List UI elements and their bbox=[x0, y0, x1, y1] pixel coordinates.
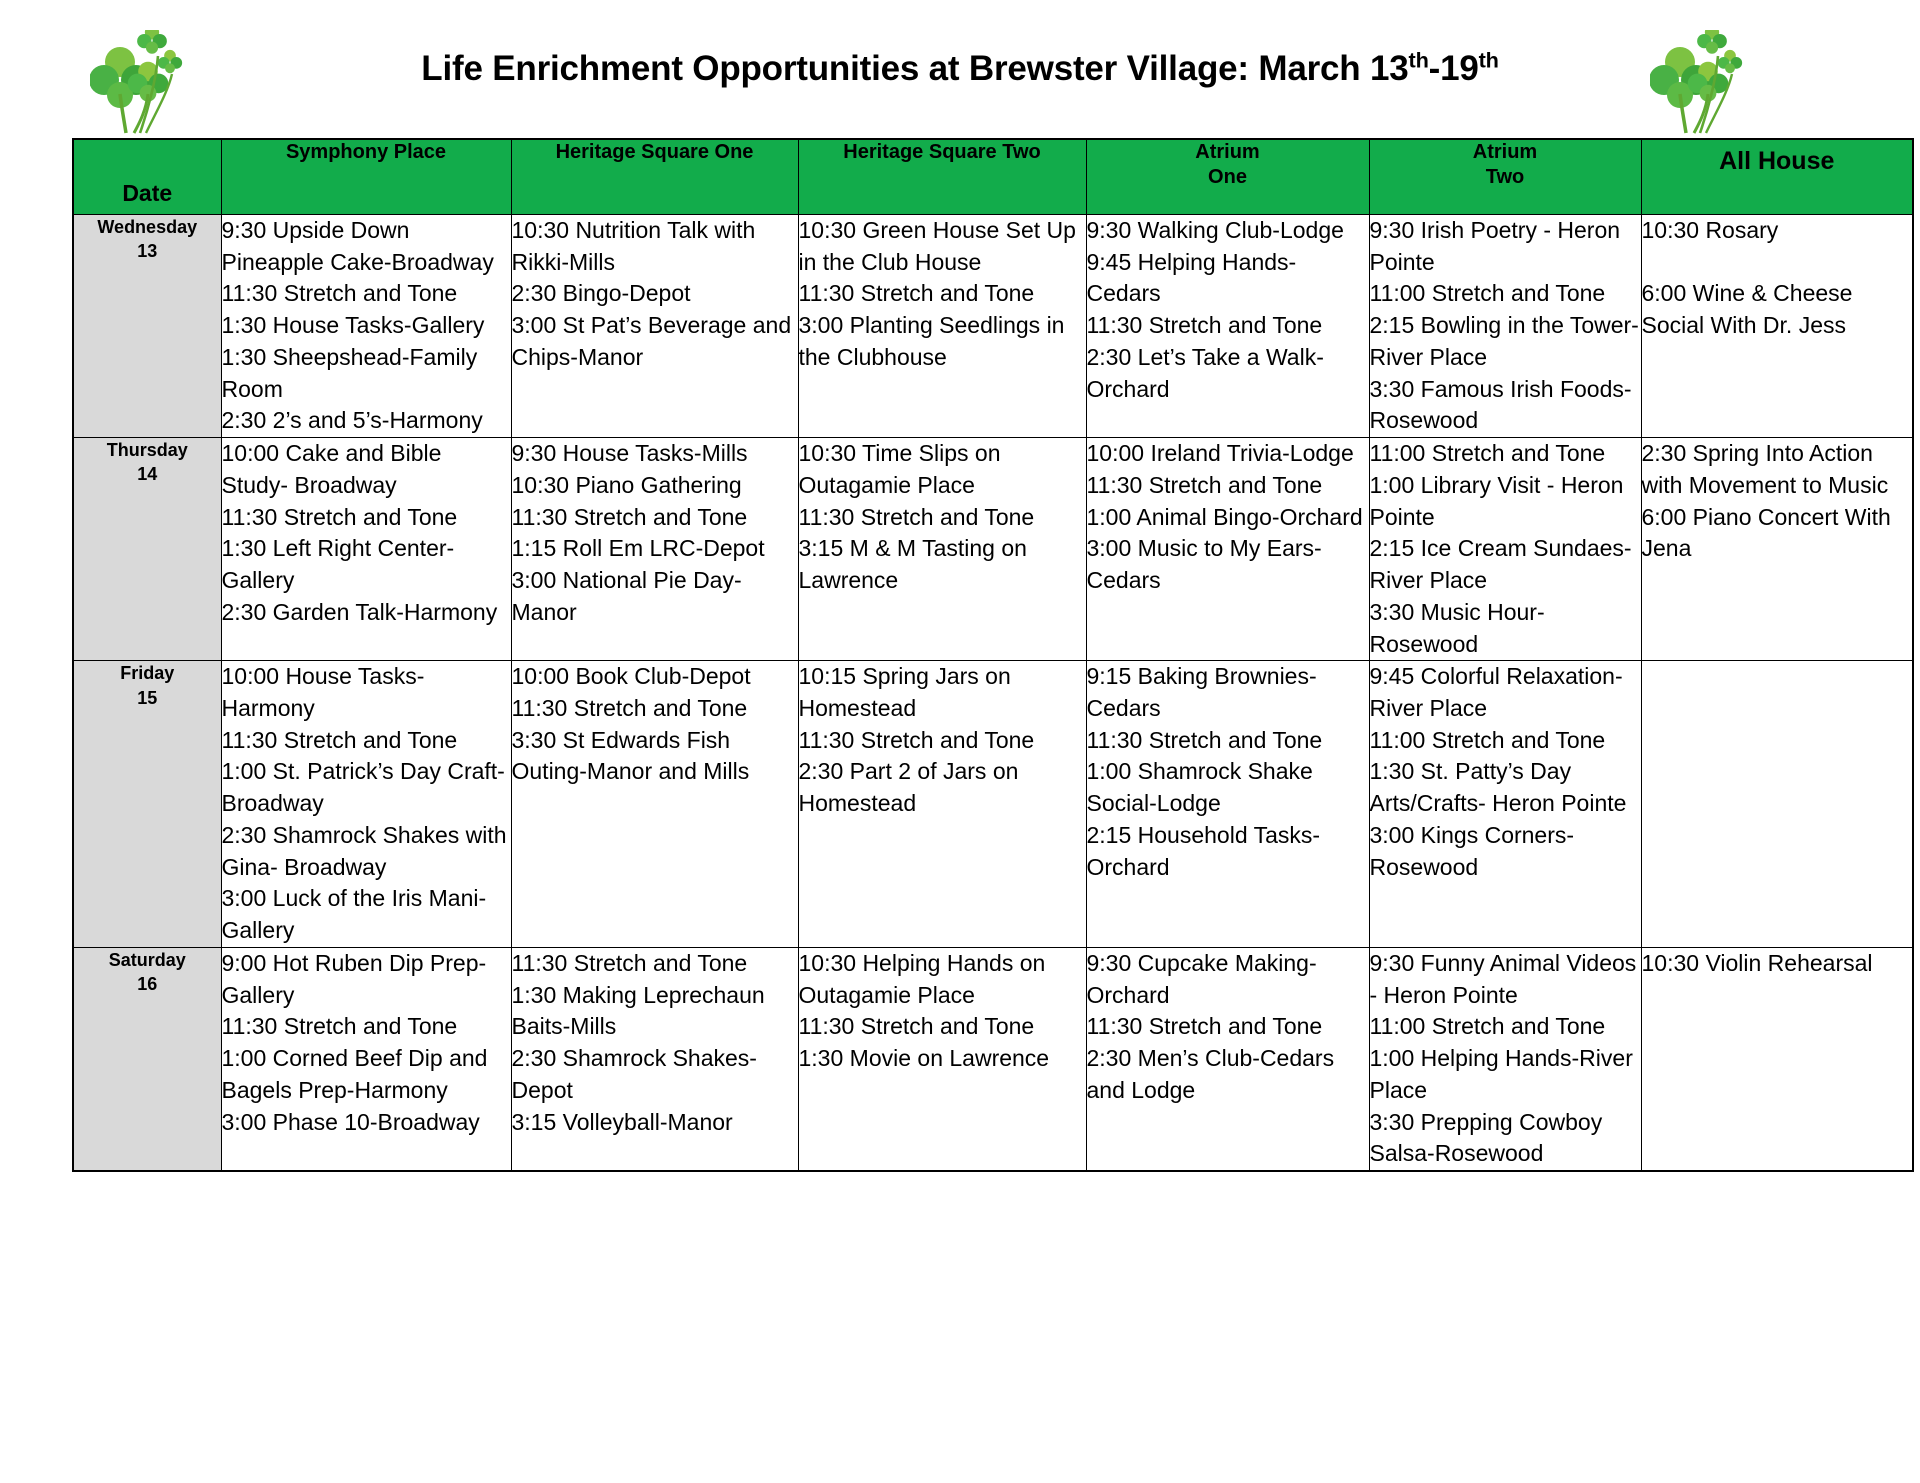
events-all-house: 2:30 Spring Into Action with Movement to… bbox=[1641, 438, 1913, 661]
date-cell: Thursday 14 bbox=[73, 438, 221, 661]
events-atrium-two: 9:30 Funny Animal Videos - Heron Pointe … bbox=[1369, 947, 1641, 1171]
day-name: Saturday bbox=[74, 948, 221, 972]
day-number: 13 bbox=[74, 239, 221, 263]
events-all-house: 10:30 Violin Rehearsal bbox=[1641, 947, 1913, 1171]
table-row: Saturday 16 9:00 Hot Ruben Dip Prep- Gal… bbox=[73, 947, 1913, 1171]
column-header-symphony-place: Symphony Place bbox=[221, 139, 511, 215]
activities-calendar-table: Date Symphony Place Heritage Square One … bbox=[72, 138, 1914, 1172]
column-header-heritage-square-one: Heritage Square One bbox=[511, 139, 798, 215]
events-atrium-one: 9:30 Cupcake Making-Orchard 11:30 Stretc… bbox=[1086, 947, 1369, 1171]
page-title-mid: -19 bbox=[1429, 49, 1479, 88]
date-cell: Saturday 16 bbox=[73, 947, 221, 1171]
events-heritage-square-two: 10:15 Spring Jars on Homestead 11:30 Str… bbox=[798, 661, 1086, 948]
day-name: Friday bbox=[74, 661, 221, 685]
events-atrium-two: 9:30 Irish Poetry - Heron Pointe 11:00 S… bbox=[1369, 215, 1641, 438]
day-number: 15 bbox=[74, 686, 221, 710]
table-header-row: Date Symphony Place Heritage Square One … bbox=[73, 139, 1913, 215]
date-cell: Wednesday 13 bbox=[73, 215, 221, 438]
day-name: Wednesday bbox=[74, 215, 221, 239]
day-number: 14 bbox=[74, 462, 221, 486]
events-atrium-one: 9:15 Baking Brownies-Cedars 11:30 Stretc… bbox=[1086, 661, 1369, 948]
events-symphony-place: 10:00 Cake and Bible Study- Broadway 11:… bbox=[221, 438, 511, 661]
page-title-sup-start: th bbox=[1409, 47, 1429, 72]
day-number: 16 bbox=[74, 972, 221, 996]
events-symphony-place: 10:00 House Tasks-Harmony 11:30 Stretch … bbox=[221, 661, 511, 948]
day-name: Thursday bbox=[74, 438, 221, 462]
column-header-atrium-one: Atrium One bbox=[1086, 139, 1369, 215]
events-atrium-two: 9:45 Colorful Relaxation-River Place 11:… bbox=[1369, 661, 1641, 948]
shamrock-icon bbox=[1650, 30, 1760, 135]
page-title: Life Enrichment Opportunities at Brewste… bbox=[421, 49, 1498, 89]
table-row: Thursday 14 10:00 Cake and Bible Study- … bbox=[73, 438, 1913, 661]
events-symphony-place: 9:00 Hot Ruben Dip Prep- Gallery 11:30 S… bbox=[221, 947, 511, 1171]
events-atrium-one: 10:00 Ireland Trivia-Lodge 11:30 Stretch… bbox=[1086, 438, 1369, 661]
events-all-house bbox=[1641, 661, 1913, 948]
events-symphony-place: 9:30 Upside Down Pineapple Cake-Broadway… bbox=[221, 215, 511, 438]
column-header-atrium-two: Atrium Two bbox=[1369, 139, 1641, 215]
events-heritage-square-two: 10:30 Helping Hands on Outagamie Place 1… bbox=[798, 947, 1086, 1171]
events-heritage-square-one: 11:30 Stretch and Tone 1:30 Making Lepre… bbox=[511, 947, 798, 1171]
calendar-page: Life Enrichment Opportunities at Brewste… bbox=[0, 0, 1920, 1483]
events-heritage-square-one: 10:30 Nutrition Talk with Rikki-Mills 2:… bbox=[511, 215, 798, 438]
table-row: Friday 15 10:00 House Tasks-Harmony 11:3… bbox=[73, 661, 1913, 948]
events-all-house: 10:30 Rosary 6:00 Wine & Cheese Social W… bbox=[1641, 215, 1913, 438]
events-heritage-square-one: 9:30 House Tasks-Mills 10:30 Piano Gathe… bbox=[511, 438, 798, 661]
date-cell: Friday 15 bbox=[73, 661, 221, 948]
page-header: Life Enrichment Opportunities at Brewste… bbox=[0, 0, 1920, 138]
column-header-all-house: All House bbox=[1641, 139, 1913, 215]
shamrock-icon bbox=[90, 30, 200, 135]
table-row: Wednesday 13 9:30 Upside Down Pineapple … bbox=[73, 215, 1913, 438]
page-title-sup-end: th bbox=[1479, 47, 1499, 72]
events-atrium-one: 9:30 Walking Club-Lodge 9:45 Helping Han… bbox=[1086, 215, 1369, 438]
events-heritage-square-two: 10:30 Time Slips on Outagamie Place 11:3… bbox=[798, 438, 1086, 661]
page-title-main: Life Enrichment Opportunities at Brewste… bbox=[421, 49, 1408, 88]
events-atrium-two: 11:00 Stretch and Tone 1:00 Library Visi… bbox=[1369, 438, 1641, 661]
events-heritage-square-one: 10:00 Book Club-Depot 11:30 Stretch and … bbox=[511, 661, 798, 948]
column-header-heritage-square-two: Heritage Square Two bbox=[798, 139, 1086, 215]
column-header-date: Date bbox=[73, 139, 221, 215]
events-heritage-square-two: 10:30 Green House Set Up in the Club Hou… bbox=[798, 215, 1086, 438]
